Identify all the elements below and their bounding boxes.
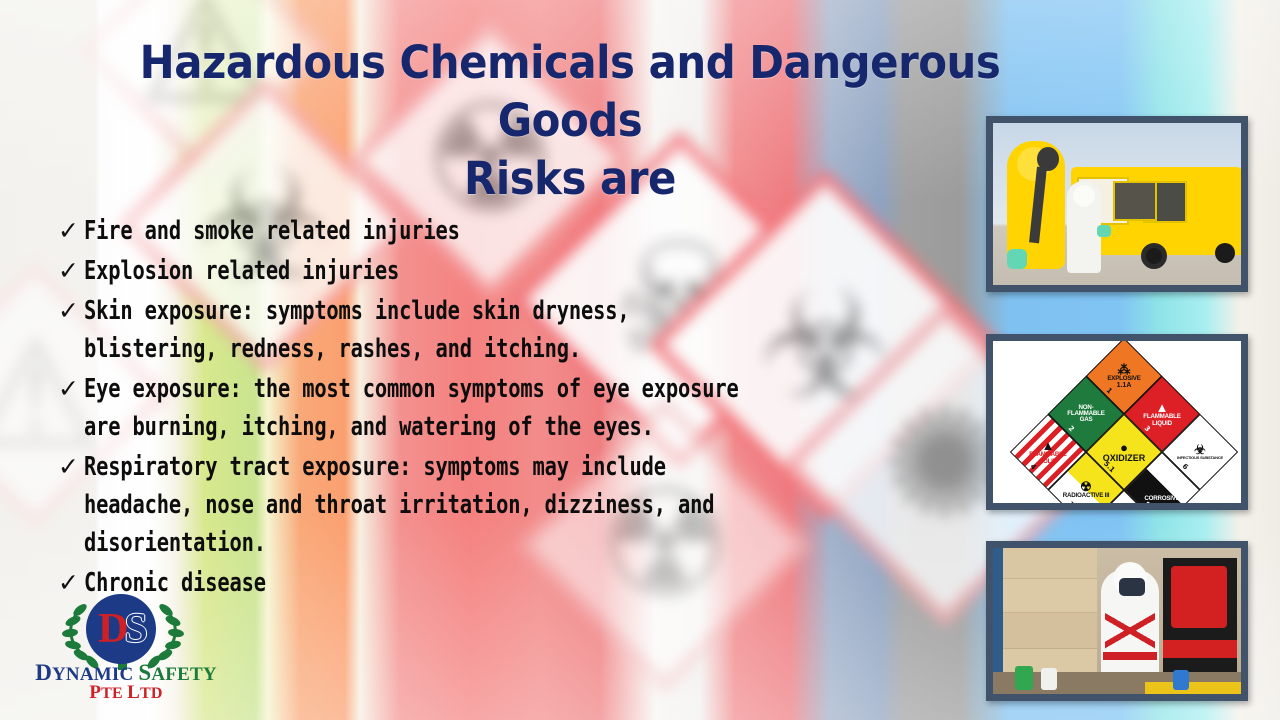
list-item-label: Skin exposure: symptoms include skin dry… [84, 292, 767, 368]
chemical-container [1173, 670, 1189, 690]
explosion-icon: ⁂ [1118, 363, 1131, 376]
list-item-label: Eye exposure: the most common symptoms o… [84, 370, 767, 446]
protective-glove [1097, 225, 1111, 237]
list-item-label: Respiratory tract exposure: symptoms may… [84, 448, 767, 562]
logo-badge: DS [86, 594, 156, 664]
logo-sub-p: P [89, 682, 101, 703]
logo-monogram-d: D [98, 606, 124, 652]
logo-sub-l: L [127, 682, 140, 703]
pallet-jack [1145, 682, 1241, 694]
image-dangerous-goods-placards: ⁂ EXPLOSIVE 1.1A 1 NON-FLAMMABLE GAS 2 ▲… [986, 334, 1248, 510]
list-item: ✓ Skin exposure: symptoms include skin d… [58, 292, 938, 368]
check-icon: ✓ [58, 212, 84, 250]
vehicle-equipment-bay [1113, 181, 1157, 221]
oxidizer-flame-icon: ● [1120, 441, 1128, 454]
chemical-container [1015, 666, 1033, 690]
placard-subtitle: 1.1A [1117, 382, 1132, 389]
list-item-label: Explosion related injuries [84, 252, 767, 290]
chemical-container [1041, 668, 1057, 690]
logo-sub-te: TE [101, 685, 123, 702]
slide-canvas: ⚠ ☣ ☢ ☠ ☣ ✺ ☢ ⚠ Hazardous Chemicals and … [0, 0, 1280, 720]
check-icon: ✓ [58, 448, 84, 486]
check-icon: ✓ [58, 292, 84, 330]
check-icon: ✓ [58, 252, 84, 290]
list-item: ✓ Respiratory tract exposure: symptoms m… [58, 448, 938, 562]
protective-glove [1007, 249, 1027, 269]
risk-bullet-list: ✓ Fire and smoke related injuries ✓ Expl… [58, 212, 938, 604]
harness-belt [1103, 652, 1157, 660]
title-line-2: Risks are [77, 150, 1063, 208]
list-item: ✓ Explosion related injuries [58, 252, 938, 290]
vehicle-wheel [1215, 243, 1235, 263]
image-hazmat-truck-content [993, 123, 1241, 285]
placard-subtitle: GAS [1080, 417, 1093, 423]
placard-subtitle: LIQUID [1152, 421, 1172, 427]
page-title: Hazardous Chemicals and Dangerous Goods … [77, 34, 1063, 208]
title-line-1: Hazardous Chemicals and Dangerous Goods [77, 34, 1063, 150]
white-hazmat-worker [1067, 181, 1101, 273]
image-warehouse-content [993, 548, 1241, 694]
logo-monogram-s: S [124, 606, 143, 652]
logo-monogram: DS [98, 608, 144, 650]
image-placards-content: ⁂ EXPLOSIVE 1.1A 1 NON-FLAMMABLE GAS 2 ▲… [993, 341, 1241, 503]
list-item-label: Fire and smoke related injuries [84, 212, 767, 250]
logo-sub-td: TD [140, 685, 163, 702]
list-item: ✓ Eye exposure: the most common symptoms… [58, 370, 938, 446]
respirator-mask-icon [1119, 578, 1145, 596]
list-item: ✓ Fire and smoke related injuries [58, 212, 938, 250]
safety-harness [1105, 602, 1155, 656]
image-hazmat-truck [986, 116, 1248, 292]
company-logo: DS DYNAMIC SAFETY PTE LTD [48, 590, 198, 702]
image-warehouse-hazmat-worker [986, 541, 1248, 701]
logo-company-suffix: PTE LTD [26, 682, 226, 704]
check-icon: ✓ [58, 370, 84, 408]
vehicle-wheel [1141, 243, 1167, 269]
